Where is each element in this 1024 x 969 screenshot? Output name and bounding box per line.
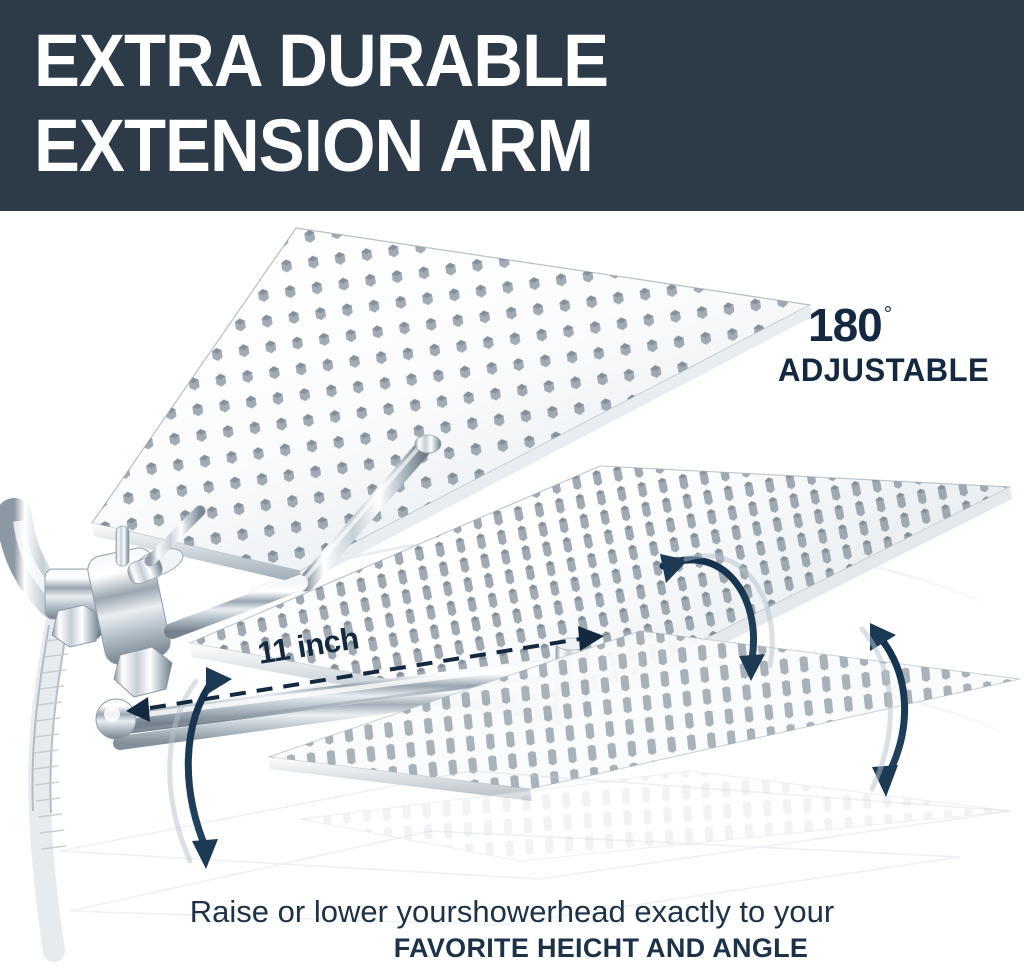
caption-line-1: Raise or lower yourshowerhead exactly to… (0, 893, 1024, 931)
caption-line-2: FAVORITE HEICHT AND ANGLE (0, 932, 1024, 965)
degree-symbol-icon: ° (884, 304, 892, 325)
footer-caption: Raise or lower yourshowerhead exactly to… (0, 893, 1024, 965)
degree-row: 180 ° (778, 302, 1024, 348)
degree-value: 180 (808, 302, 882, 348)
callout-180-adjustable: 180 ° ADJUSTABLE (778, 302, 1024, 389)
header-title-line-1: EXTRA DURABLE (34, 18, 955, 103)
rotation-arrow-bottom-left (170, 667, 232, 869)
header-title-line-2: EXTENSION ARM (34, 103, 955, 188)
adjustable-label: ADJUSTABLE (778, 352, 1017, 389)
header-banner: EXTRA DURABLE EXTENSION ARM (0, 0, 1024, 211)
